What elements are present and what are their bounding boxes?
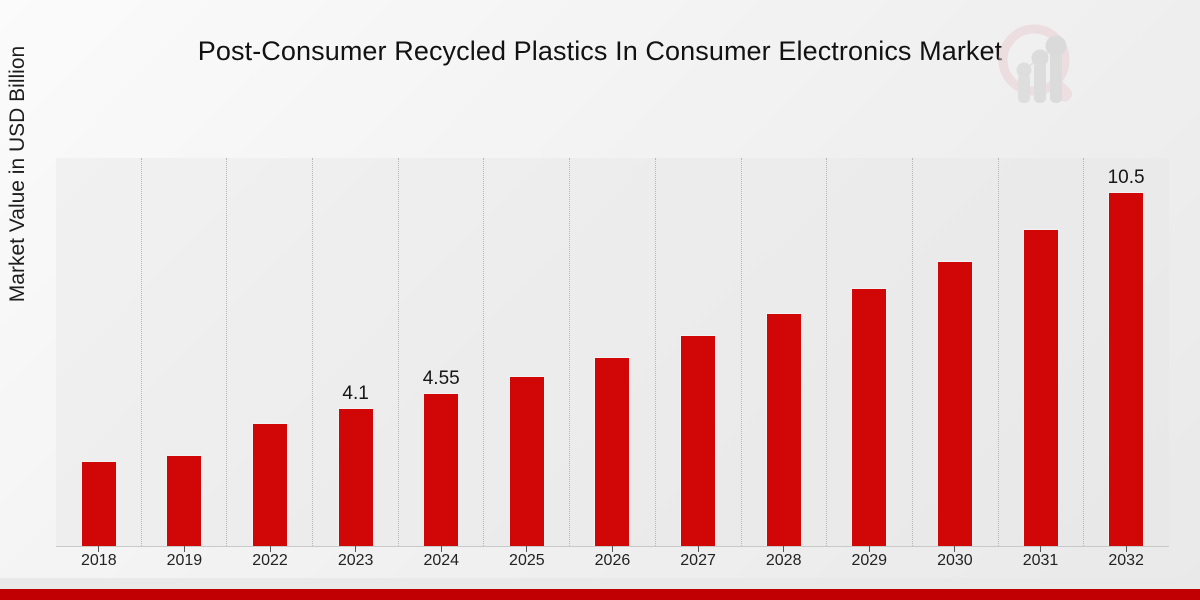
x-axis-tick-label: 2031	[998, 552, 1084, 578]
x-axis-tick-labels: 2018201920222023202420252026202720282029…	[56, 552, 1169, 578]
bar[interactable]: 10.5	[1108, 192, 1144, 546]
x-axis-tick-label: 2026	[570, 552, 656, 578]
bar-slot: 4.55	[398, 158, 484, 546]
bar-slot: 10.5	[1083, 158, 1169, 546]
plot-area: 4.14.5510.5	[56, 158, 1169, 546]
bar-value-label: 10.5	[1108, 167, 1145, 189]
bar[interactable]	[594, 357, 630, 546]
x-axis-tick-label: 2032	[1083, 552, 1169, 578]
footer-band-red	[0, 589, 1200, 600]
bar-slot	[142, 158, 228, 546]
x-axis-tick-label: 2027	[655, 552, 741, 578]
bar[interactable]: 4.55	[423, 393, 459, 547]
x-axis-tick-label: 2024	[398, 552, 484, 578]
x-axis-tick-label: 2029	[826, 552, 912, 578]
bar[interactable]	[680, 335, 716, 546]
bar-value-label: 4.55	[423, 368, 460, 390]
bar-series: 4.14.5510.5	[56, 158, 1169, 546]
bar-slot	[655, 158, 741, 546]
bar-slot	[741, 158, 827, 546]
bar-slot	[227, 158, 313, 546]
chart-page: Post-Consumer Recycled Plastics In Consu…	[0, 0, 1200, 600]
y-axis-title: Market Value in USD Billion	[3, 0, 33, 384]
bar-value-label: 4.1	[342, 383, 368, 405]
bar[interactable]	[252, 423, 288, 546]
x-axis-tick-label: 2025	[484, 552, 570, 578]
footer-band-light	[0, 578, 1200, 589]
x-axis-tick-label: 2019	[142, 552, 228, 578]
bar-slot	[998, 158, 1084, 546]
x-axis-tick-label: 2028	[741, 552, 827, 578]
x-axis-tick-label: 2023	[313, 552, 399, 578]
bar-slot	[570, 158, 656, 546]
x-axis-tick-label: 2018	[56, 552, 142, 578]
bar-slot	[56, 158, 142, 546]
bar[interactable]	[166, 455, 202, 546]
bar-slot	[826, 158, 912, 546]
x-axis-tick-label: 2022	[227, 552, 313, 578]
bar[interactable]	[851, 288, 887, 546]
page-title: Post-Consumer Recycled Plastics In Consu…	[0, 36, 1200, 67]
bar-slot: 4.1	[313, 158, 399, 546]
bar[interactable]	[937, 261, 973, 546]
bar[interactable]	[1023, 229, 1059, 546]
bar-slot	[484, 158, 570, 546]
x-axis-tick-label: 2030	[912, 552, 998, 578]
bar[interactable]	[81, 461, 117, 546]
bar[interactable]: 4.1	[338, 408, 374, 546]
bar-slot	[912, 158, 998, 546]
bar[interactable]	[766, 313, 802, 546]
bar[interactable]	[509, 376, 545, 546]
